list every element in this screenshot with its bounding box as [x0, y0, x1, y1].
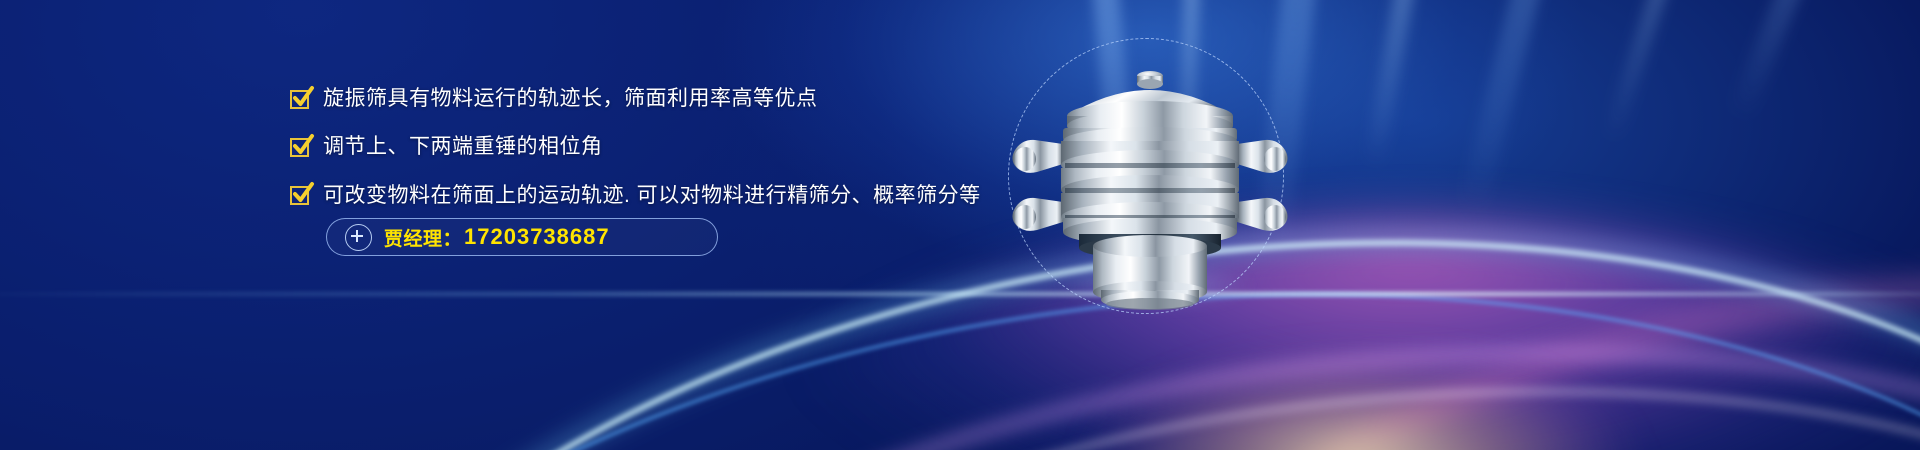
- check-box-icon: [290, 186, 309, 205]
- warm-glow: [1010, 330, 1710, 450]
- list-item: 可改变物料在筛面上的运动轨迹. 可以对物料进行精筛分、概率筛分等: [290, 183, 1050, 209]
- feature-list: 旋振筛具有物料运行的轨迹长，筛面利用率高等优点 调节上、下两端重锤的相位角 可改…: [290, 86, 1050, 231]
- light-shaft: [1458, 0, 1548, 216]
- contact-name: 贾经理：: [384, 224, 462, 251]
- feature-text: 调节上、下两端重锤的相位角: [323, 134, 603, 160]
- list-item: 调节上、下两端重锤的相位角: [290, 134, 1050, 160]
- feature-text: 可改变物料在筛面上的运动轨迹. 可以对物料进行精筛分、概率筛分等: [323, 183, 981, 209]
- list-item: 旋振筛具有物料运行的轨迹长，筛面利用率高等优点: [290, 86, 1050, 112]
- white-arc: [686, 353, 1920, 450]
- check-box-icon: [290, 138, 309, 157]
- horizon-line: [0, 292, 1920, 296]
- check-box-icon: [290, 90, 309, 109]
- feature-text: 旋振筛具有物料运行的轨迹长，筛面利用率高等优点: [323, 86, 818, 112]
- promo-banner: 旋振筛具有物料运行的轨迹长，筛面利用率高等优点 调节上、下两端重锤的相位角 可改…: [0, 0, 1920, 450]
- contact-phone: 17203738687: [464, 224, 610, 250]
- rotary-vibrating-screen-image: [1005, 58, 1295, 313]
- light-shaft: [1364, 0, 1420, 169]
- light-shaft: [1727, 0, 1813, 122]
- contact-pill[interactable]: 贾经理： 17203738687: [326, 218, 718, 256]
- light-shaft: [1602, 0, 1678, 143]
- plus-circle-icon: [345, 224, 372, 251]
